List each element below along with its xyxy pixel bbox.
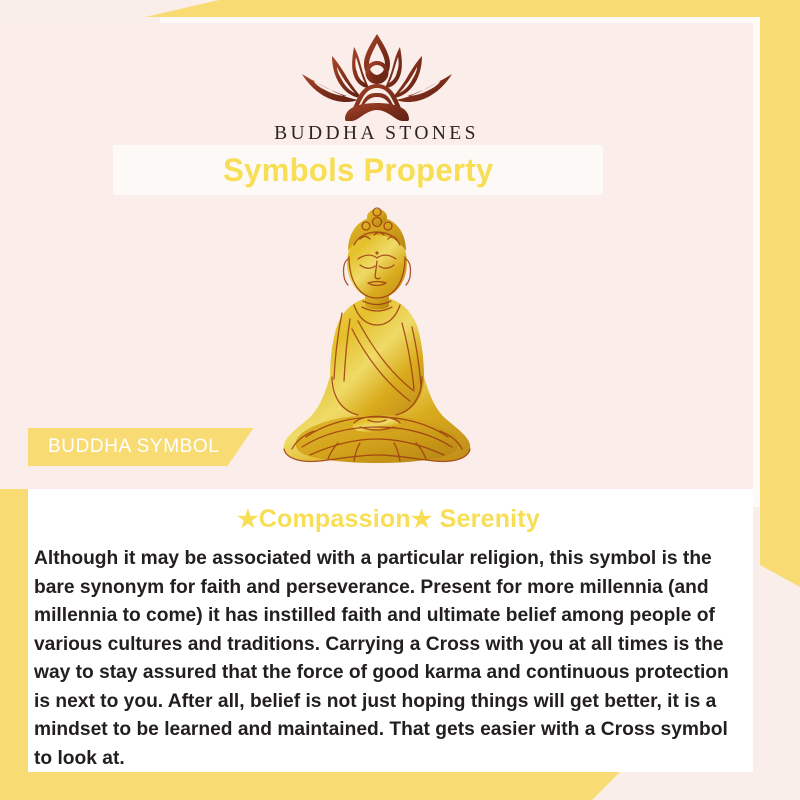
description-paragraph: Although it may be associated with a par…: [34, 544, 732, 772]
brand-name: BUDDHA STONES: [274, 123, 479, 145]
lotus-meditation-figure-icon: [282, 29, 472, 121]
description-section: ★Compassion★ Serenity Although it may be…: [28, 489, 753, 772]
attribute-serenity: Serenity: [433, 505, 540, 533]
poster-sheet: BUDDHA STONES Symbols Property: [0, 0, 800, 800]
page-title-banner: Symbols Property: [113, 145, 603, 195]
page-title: Symbols Property: [223, 152, 493, 189]
buddha-symbol-ribbon: BUDDHA SYMBOL: [28, 428, 253, 466]
star-icon-2: ★: [411, 506, 433, 533]
brand-logo: BUDDHA STONES: [0, 23, 753, 145]
hero-section: BUDDHA STONES Symbols Property: [0, 23, 753, 489]
symbol-attributes: ★Compassion★ Serenity: [34, 505, 743, 534]
attribute-compassion: Compassion: [259, 505, 411, 533]
buddha-symbol-label: BUDDHA SYMBOL: [48, 436, 219, 458]
star-icon-1: ★: [237, 506, 259, 533]
